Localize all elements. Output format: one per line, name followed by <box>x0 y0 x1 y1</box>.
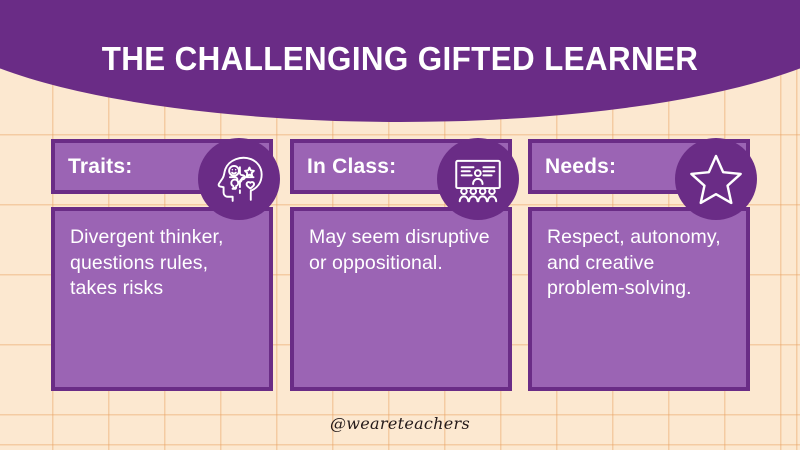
card-header-label: Traits: <box>55 156 132 177</box>
card-group: Traits: <box>0 0 800 450</box>
card-header-in-class: In Class: <box>290 139 512 194</box>
star-icon <box>675 138 757 220</box>
card-body-in-class: May seem disruptive or oppositional. <box>290 207 512 391</box>
card-in-class: In Class: <box>290 139 512 391</box>
poster-canvas: THE CHALLENGING GIFTED LEARNER Traits: <box>0 0 800 450</box>
classroom-presentation-icon <box>437 138 519 220</box>
card-header-label: Needs: <box>532 156 616 177</box>
card-body-text: Respect, autonomy, and creative problem-… <box>547 225 732 302</box>
card-needs: Needs: Respect, autonomy, and creative p… <box>528 139 750 391</box>
card-body-traits: Divergent thinker, questions rules, take… <box>51 207 273 391</box>
card-header-traits: Traits: <box>51 139 273 194</box>
card-header-needs: Needs: <box>528 139 750 194</box>
card-body-needs: Respect, autonomy, and creative problem-… <box>528 207 750 391</box>
card-body-text: Divergent thinker, questions rules, take… <box>70 225 255 302</box>
attribution-handle: @weareteachers <box>0 414 800 433</box>
card-body-text: May seem disruptive or oppositional. <box>309 225 494 276</box>
brain-puzzle-head-icon <box>198 138 280 220</box>
card-traits: Traits: <box>51 139 273 391</box>
card-header-label: In Class: <box>294 156 396 177</box>
